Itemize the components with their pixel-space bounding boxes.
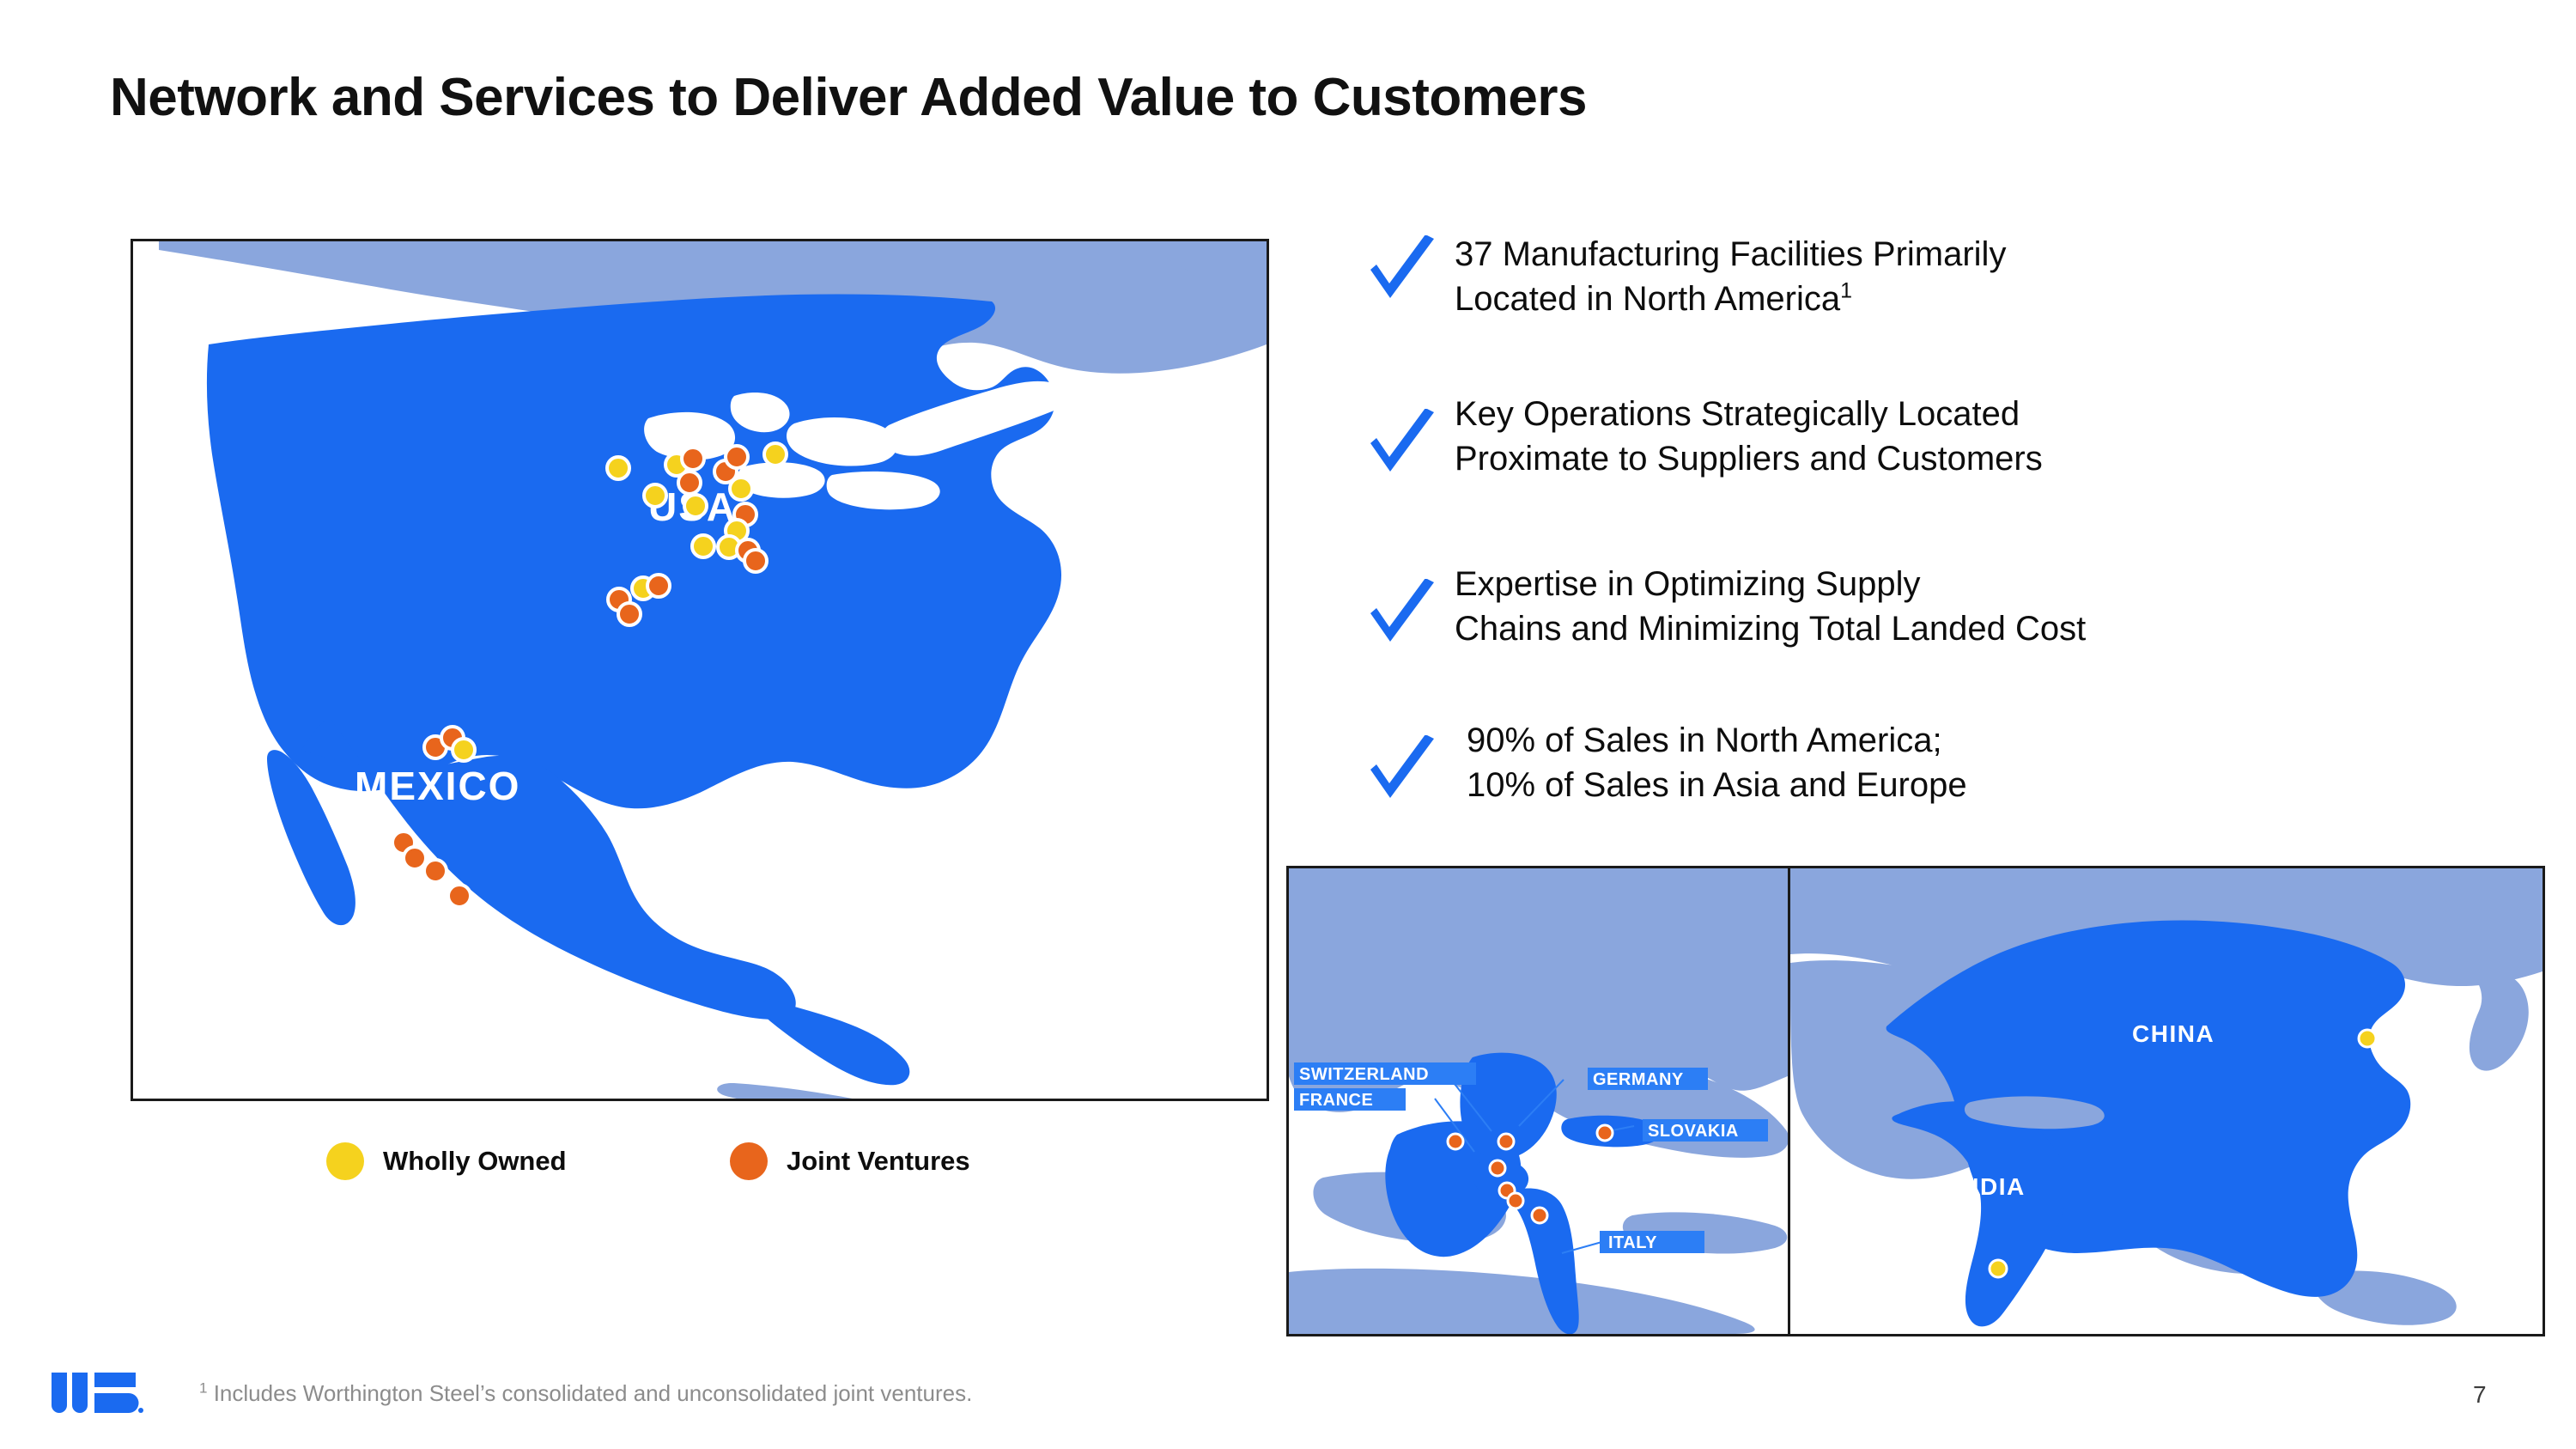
bullet-text-sales-split: 90% of Sales in North America; 10% of Sa… [1455,716,1967,807]
svg-text:ITALY: ITALY [1608,1233,1657,1252]
yellow-dot-icon [730,478,752,500]
blue-checkmark-icon [1365,409,1455,487]
bullet-text-expertise: Expertise in Optimizing Supply Chains an… [1455,560,2086,651]
page-number: 7 [2473,1381,2487,1409]
orange-dot-icon [448,885,471,907]
orange-dot-icon [678,472,701,494]
bullet-item-facilities: 37 Manufacturing Facilities Primarily Lo… [1365,230,2507,321]
svg-text:GERMANY: GERMANY [1593,1070,1684,1089]
svg-text:FRANCE: FRANCE [1299,1091,1373,1110]
svg-text:SWITZERLAND: SWITZERLAND [1299,1065,1429,1084]
yellow-dot-icon [326,1142,364,1180]
europe-map-panel: SWITZERLAND FRANCE GERMANY SLOVAKIA ITAL… [1286,866,1795,1336]
yellow-dot-icon [607,457,629,479]
footnote: 1 Includes Worthington Steel’s consolida… [199,1380,972,1407]
north-america-map-panel: USA MEXICO [131,239,1269,1101]
map-label-china: CHINA [2132,1020,2215,1047]
yellow-dot-icon [764,443,787,466]
europe-map: SWITZERLAND FRANCE GERMANY SLOVAKIA ITAL… [1289,868,1792,1334]
orange-dot-icon [730,1142,768,1180]
yellow-dot-icon [692,535,714,557]
bullet-item-sales-split: 90% of Sales in North America; 10% of Sa… [1365,716,2507,813]
map-label-mexico: MEXICO [355,764,520,808]
legend-item-joint-ventures: Joint Ventures [730,1142,970,1180]
svg-text:SLOVAKIA: SLOVAKIA [1648,1122,1739,1141]
yellow-dot-icon [644,484,666,507]
worthington-steel-logo [50,1371,151,1426]
asia-map: CHINA INDIA [1790,868,2543,1334]
bullet-item-expertise: Expertise in Optimizing Supply Chains an… [1365,560,2507,657]
yellow-dot-icon [684,495,707,517]
blue-checkmark-icon [1365,235,1455,314]
map-legend: Wholly Owned Joint Ventures [326,1142,1099,1202]
legend-item-wholly-owned: Wholly Owned [326,1142,567,1180]
legend-label-wholly-owned: Wholly Owned [383,1146,567,1177]
orange-dot-icon [647,575,670,597]
blue-checkmark-icon [1365,579,1455,657]
footnote-text: Includes Worthington Steel’s consolidate… [207,1380,972,1406]
page-title: Network and Services to Deliver Added Va… [110,67,1587,128]
bullet-text-operations: Key Operations Strategically Located Pro… [1455,390,2043,481]
orange-dot-icon [618,603,641,625]
orange-dot-icon [744,550,767,572]
orange-dot-icon [404,847,426,869]
asia-map-panel: CHINA INDIA [1788,866,2545,1336]
orange-dot-icon [424,860,447,882]
bullet-text-facilities: 37 Manufacturing Facilities Primarily Lo… [1455,230,2006,321]
map-label-india: INDIA [1953,1173,2026,1200]
orange-dot-icon [726,446,748,468]
orange-dot-icon [682,447,704,470]
bullet-item-operations: Key Operations Strategically Located Pro… [1365,390,2507,487]
north-america-map: USA MEXICO [133,241,1267,1099]
yellow-dot-icon [453,739,475,761]
legend-label-joint-ventures: Joint Ventures [787,1146,970,1177]
blue-checkmark-icon [1365,735,1455,813]
